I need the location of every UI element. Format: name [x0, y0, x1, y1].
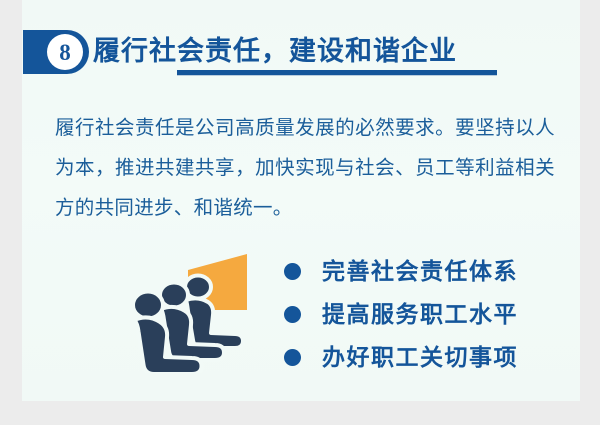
content-card: 8 履行社会责任，建设和谐企业 履行社会责任是公司高质量发展的必然要求。要坚持以…: [22, 0, 580, 401]
bullet-label: 完善社会责任体系: [322, 260, 518, 283]
bullet-label: 办好职工关切事项: [322, 346, 518, 369]
bullet-dot-icon: [284, 263, 301, 280]
bullet-dot-icon: [284, 306, 301, 323]
title-underline-rule: [177, 70, 497, 75]
section-number-badge: 8: [23, 30, 89, 74]
list-item: 完善社会责任体系: [284, 250, 518, 293]
list-item: 提高服务职工水平: [284, 293, 518, 336]
list-item: 办好职工关切事项: [284, 336, 518, 379]
bullet-dot-icon: [284, 349, 301, 366]
seated-audience-icon: [110, 248, 260, 373]
bullet-label: 提高服务职工水平: [322, 303, 518, 326]
badge-number-label: 8: [59, 41, 71, 64]
body-paragraph: 履行社会责任是公司高质量发展的必然要求。要坚持以人为本，推进共建共享，加快实现与…: [55, 108, 555, 228]
badge-circle: 8: [47, 34, 83, 70]
poster-page: 8 履行社会责任，建设和谐企业 履行社会责任是公司高质量发展的必然要求。要坚持以…: [0, 0, 600, 425]
bullet-list: 完善社会责任体系 提高服务职工水平 办好职工关切事项: [284, 250, 518, 379]
section-title: 履行社会责任，建设和谐企业: [93, 31, 457, 71]
